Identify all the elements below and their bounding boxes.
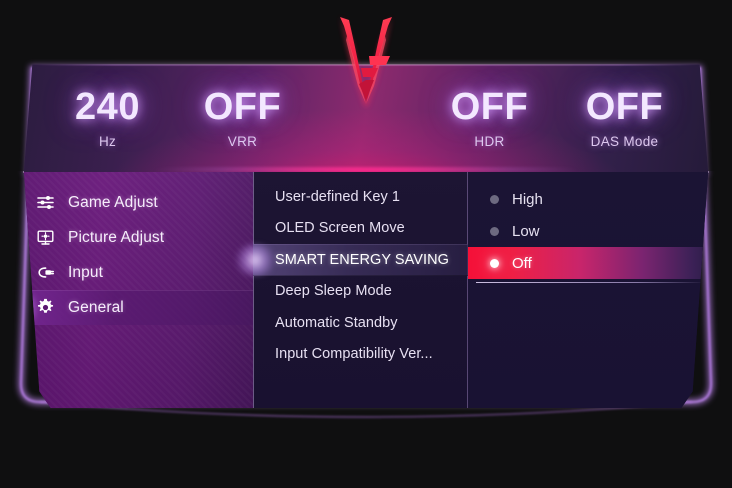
sidebar-list: Game Adjust <box>14 172 253 325</box>
menu-item-input-compatibility-version[interactable]: Input Compatibility Ver... <box>253 339 468 371</box>
option-label: Off <box>512 255 532 272</box>
status-label: Hz <box>40 135 175 149</box>
status-bar: 240 Hz OFF VRR OFF HDR OFF DAS Mode <box>14 60 718 172</box>
status-label: VRR <box>175 135 310 149</box>
submenu-items: User-defined Key 1 OLED Screen Move SMAR… <box>253 172 468 370</box>
menu-item-oled-screen-move[interactable]: OLED Screen Move <box>253 213 468 245</box>
header-bottom-glow <box>14 167 718 172</box>
sidebar: Game Adjust <box>14 172 253 408</box>
radio-icon <box>490 195 499 204</box>
menu-item-label: Input Compatibility Ver... <box>275 346 433 362</box>
option-high[interactable]: High <box>468 183 718 215</box>
option-label: Low <box>512 223 540 240</box>
radio-icon-selected <box>490 259 499 268</box>
sidebar-item-general[interactable]: General <box>14 290 253 325</box>
menu-item-label: SMART ENERGY SAVING <box>275 252 449 268</box>
menu-item-label: Automatic Standby <box>275 315 398 331</box>
status-label: HDR <box>422 135 557 149</box>
sidebar-item-label: Input <box>68 264 103 282</box>
sidebar-item-label: General <box>68 299 124 317</box>
sidebar-item-picture-adjust[interactable]: Picture Adjust <box>14 220 253 255</box>
gear-icon <box>36 298 55 317</box>
menu-item-automatic-standby[interactable]: Automatic Standby <box>253 307 468 339</box>
status-das-mode: OFF DAS Mode <box>557 88 692 149</box>
status-hdr: OFF HDR <box>422 88 557 149</box>
menu-item-label: Deep Sleep Mode <box>275 283 392 299</box>
sidebar-item-input[interactable]: Input <box>14 255 253 290</box>
menu-item-smart-energy-saving[interactable]: SMART ENERGY SAVING <box>253 244 468 276</box>
sidebar-item-game-adjust[interactable]: Game Adjust <box>14 185 253 220</box>
osd-menu-body: Game Adjust <box>14 172 718 408</box>
menu-item-label: User-defined Key 1 <box>275 189 400 205</box>
osd-header: 240 Hz OFF VRR OFF HDR OFF DAS Mode <box>14 60 718 172</box>
status-value: OFF <box>422 88 557 126</box>
plug-cable-icon <box>36 263 55 282</box>
submenu-list: User-defined Key 1 OLED Screen Move SMAR… <box>253 172 468 408</box>
sidebar-item-label: Game Adjust <box>68 194 158 212</box>
monitor-gear-icon <box>36 228 55 247</box>
menu-item-deep-sleep-mode[interactable]: Deep Sleep Mode <box>253 276 468 308</box>
status-value: OFF <box>175 88 310 126</box>
option-low[interactable]: Low <box>468 215 718 247</box>
options-panel: High Low Off <box>468 172 718 408</box>
menu-item-label: OLED Screen Move <box>275 220 405 236</box>
status-value: OFF <box>557 88 692 126</box>
osd-panel: 240 Hz OFF VRR OFF HDR OFF DAS Mode <box>14 60 718 408</box>
status-vrr: OFF VRR <box>175 88 310 149</box>
status-label: DAS Mode <box>557 135 692 149</box>
sidebar-item-label: Picture Adjust <box>68 229 164 247</box>
radio-icon <box>490 227 499 236</box>
option-off[interactable]: Off <box>468 247 718 279</box>
status-value: 240 <box>40 88 175 126</box>
sliders-icon <box>36 193 55 212</box>
options-list: High Low Off <box>468 172 718 279</box>
status-refresh-rate: 240 Hz <box>40 88 175 149</box>
menu-item-user-defined-key-1[interactable]: User-defined Key 1 <box>253 181 468 213</box>
option-label: High <box>512 191 543 208</box>
osd-screen: 240 Hz OFF VRR OFF HDR OFF DAS Mode <box>0 0 732 488</box>
